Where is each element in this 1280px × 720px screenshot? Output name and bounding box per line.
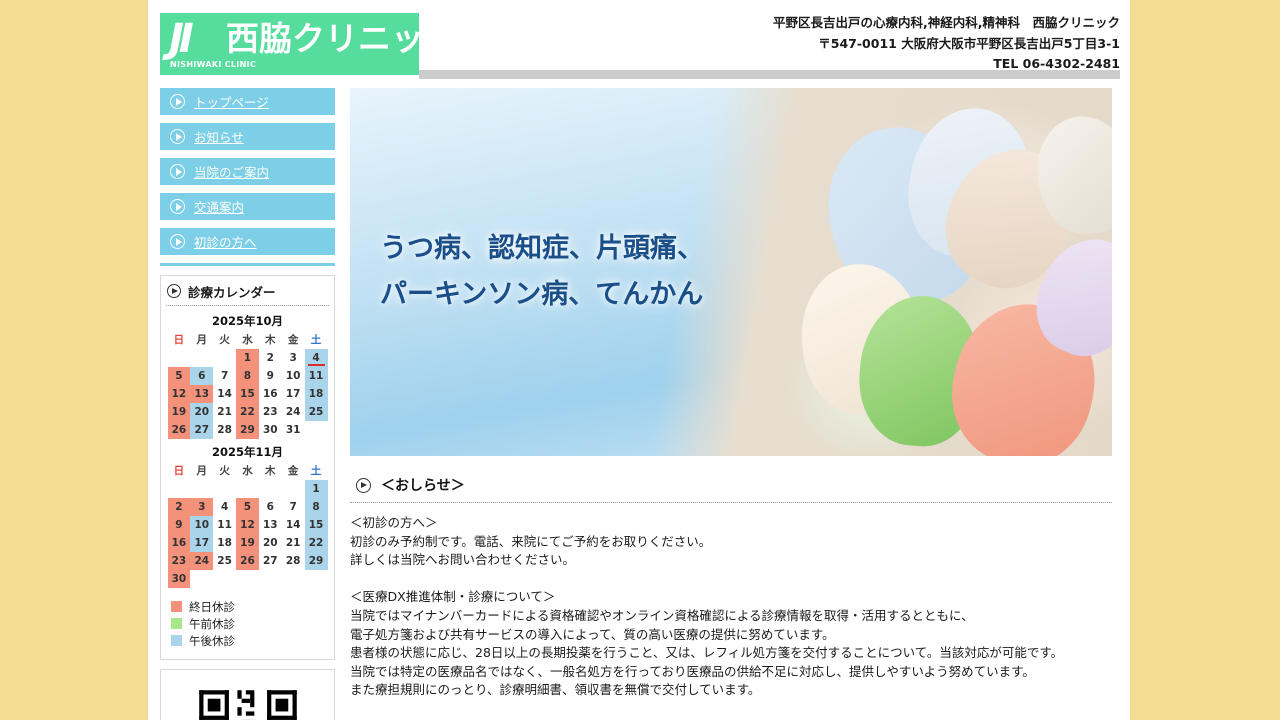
news-line: 初診のみ予約制です。電話、来院にてご予約をお取りください。 [350, 533, 1112, 552]
calendar-week-row: 16171819202122 [168, 534, 328, 552]
legend-swatch-icon [171, 618, 182, 629]
calendar-week-row: 567891011 [168, 367, 328, 385]
arrow-right-icon [170, 94, 185, 109]
sidebar-item-about[interactable]: 当院のご案内 [160, 158, 335, 185]
calendar-day-cell[interactable]: 30 [259, 421, 282, 439]
calendar-day-cell[interactable]: 31 [282, 421, 305, 439]
calendar-day-cell[interactable]: 17 [282, 385, 305, 403]
calendar-day-cell[interactable]: 20 [259, 534, 282, 552]
calendar-empty-cell [168, 480, 191, 498]
main-column: うつ病、認知症、片頭痛、 パーキンソン病、てんかん ＜おしらせ＞ ＜初診の方へ＞… [350, 88, 1118, 720]
calendar-day-cell[interactable]: 10 [282, 367, 305, 385]
arrow-right-icon [170, 234, 185, 249]
news-line: ＜医療DX推進体制・診療について＞ [350, 588, 1112, 607]
calendar-day-cell[interactable]: 14 [213, 385, 236, 403]
calendar-week-row: 9101112131415 [168, 516, 328, 534]
site-header: JI 西脇クリニック NISHIWAKI CLINIC 平野区長吉出戸の心療内科… [148, 0, 1130, 80]
calendar-day-cell[interactable]: 3 [282, 349, 305, 367]
calendar-day-cell[interactable]: 24 [282, 403, 305, 421]
news-blank-line [350, 700, 1112, 719]
legend-item-morning: 午前休診 [171, 615, 334, 632]
calendar-day-cell[interactable]: 25 [305, 403, 328, 421]
calendar-day-cell[interactable]: 6 [259, 498, 282, 516]
calendar-empty-cell [190, 349, 213, 367]
calendar-day-cell[interactable]: 8 [236, 367, 259, 385]
site-logo[interactable]: JI 西脇クリニック NISHIWAKI CLINIC [160, 13, 419, 75]
calendar-week-row: 23242526272829 [168, 552, 328, 570]
divider [350, 502, 1112, 503]
news-body: ＜初診の方へ＞初診のみ予約制です。電話、来院にてご予約をお取りください。詳しくは… [350, 514, 1112, 720]
calendar-week-row: 30 [168, 570, 328, 588]
legend-swatch-icon [171, 635, 182, 646]
calendar-day-cell[interactable]: 21 [282, 534, 305, 552]
calendar-week-row: 1 [168, 480, 328, 498]
weekday-label: 火 [213, 331, 236, 349]
calendar-day-cell[interactable]: 25 [213, 552, 236, 570]
calendar-panel-header: 診療カレンダー [161, 280, 334, 302]
news-section-title: ＜おしらせ＞ [381, 475, 465, 495]
weekday-label: 水 [236, 462, 259, 480]
calendar-day-cell[interactable]: 11 [213, 516, 236, 534]
calendar-day-cell[interactable]: 19 [236, 534, 259, 552]
calendar-day-cell[interactable]: 29 [305, 552, 328, 570]
calendar-empty-cell [168, 349, 191, 367]
arrow-right-icon [356, 478, 371, 493]
calendar-day-cell[interactable]: 5 [236, 498, 259, 516]
calendar-empty-cell [213, 570, 236, 588]
news-blank-line [350, 570, 1112, 589]
calendar-weekday-row: 日 月 火 水 木 金 土 [168, 462, 328, 480]
calendar-month-title: 2025年10月 [161, 308, 334, 331]
calendar-empty-cell [236, 570, 259, 588]
news-line: また療担規則にのっとり、診療明細書、領収書を無償で交付しています。 [350, 681, 1112, 700]
calendar-week-row: 262728293031 [168, 421, 328, 439]
calendar-table: 日 月 火 水 木 金 土 12345678910111213141516171… [168, 331, 328, 439]
weekday-label: 木 [259, 462, 282, 480]
calendar-day-cell[interactable]: 1 [305, 480, 328, 498]
calendar-month-october: 2025年10月 日 月 火 水 木 金 土 12345678910111213… [161, 308, 334, 439]
calendar-day-cell[interactable]: 13 [190, 385, 213, 403]
calendar-day-cell[interactable]: 7 [213, 367, 236, 385]
weekday-label: 土 [305, 331, 328, 349]
calendar-month-november: 2025年11月 日 月 火 水 木 金 土 12345678910111213… [161, 439, 334, 588]
calendar-day-cell[interactable]: 18 [213, 534, 236, 552]
news-section: ＜おしらせ＞ ＜初診の方へ＞初診のみ予約制です。電話、来院にてご予約をお取りくだ… [350, 474, 1112, 720]
weekday-label: 日 [168, 462, 191, 480]
calendar-day-cell[interactable]: 7 [282, 498, 305, 516]
sidebar-item-top[interactable]: トップページ [160, 88, 335, 115]
calendar-day-cell[interactable]: 16 [168, 534, 191, 552]
calendar-week-row: 19202122232425 [168, 403, 328, 421]
calendar-day-cell[interactable]: 2 [259, 349, 282, 367]
weekday-label: 月 [190, 462, 213, 480]
calendar-day-cell[interactable]: 13 [259, 516, 282, 534]
clinic-tagline: 平野区長吉出戸の心療内科,神経内科,精神科 西脇クリニック [773, 13, 1120, 34]
calendar-empty-cell [236, 480, 259, 498]
treatment-calendar-panel: 診療カレンダー 2025年10月 日 月 火 水 木 金 土 [160, 275, 335, 660]
news-line: 当院では特定の医療品名ではなく、一般名処方を行っており医療品の供給不足に対応し、… [350, 663, 1112, 682]
calendar-empty-cell [282, 480, 305, 498]
calendar-day-cell[interactable]: 16 [259, 385, 282, 403]
legend-item-afternoon: 午後休診 [171, 632, 334, 649]
legend-label: 終日休診 [189, 599, 235, 615]
sidebar: トップページ お知らせ 当院のご案内 交通案内 初診の方へ [160, 88, 335, 720]
calendar-day-cell[interactable]: 27 [190, 421, 213, 439]
news-line: ＜初診の方へ＞ [350, 514, 1112, 533]
news-header: ＜おしらせ＞ [350, 474, 1112, 496]
weekday-label: 土 [305, 462, 328, 480]
calendar-empty-cell [213, 480, 236, 498]
calendar-day-cell[interactable]: 4 [213, 498, 236, 516]
calendar-empty-cell [190, 480, 213, 498]
legend-swatch-icon [171, 601, 182, 612]
calendar-day-cell[interactable]: 17 [190, 534, 213, 552]
calendar-week-row: 2345678 [168, 498, 328, 516]
calendar-empty-cell [259, 570, 282, 588]
sidebar-item-label: 当院のご案内 [194, 162, 269, 181]
news-line: 患者様の状態に応じ、28日以上の長期投薬を行うこと、又は、レフィル処方箋を交付す… [350, 644, 1112, 663]
content-shell: JI 西脇クリニック NISHIWAKI CLINIC 平野区長吉出戸の心療内科… [148, 0, 1130, 720]
calendar-empty-cell [305, 570, 328, 588]
sidebar-item-label: トップページ [194, 92, 269, 111]
calendar-day-cell[interactable]: 1 [236, 349, 259, 367]
weekday-label: 金 [282, 331, 305, 349]
calendar-day-cell[interactable]: 15 [305, 516, 328, 534]
hero-headline: うつ病、認知症、片頭痛、 パーキンソン病、てんかん [380, 226, 704, 318]
calendar-day-cell[interactable]: 28 [282, 552, 305, 570]
weekday-label: 日 [168, 331, 191, 349]
calendar-day-cell[interactable]: 29 [236, 421, 259, 439]
calendar-day-cell[interactable]: 20 [190, 403, 213, 421]
arrow-right-icon [167, 284, 181, 298]
logo-english-name: NISHIWAKI CLINIC [170, 60, 256, 69]
calendar-legend: 終日休診 午前休診 午後休診 [171, 598, 334, 649]
legend-label: 午前休診 [189, 616, 235, 632]
calendar-week-row: 12131415161718 [168, 385, 328, 403]
clinic-address: 〒547-0011 大阪府大阪市平野区長吉出戸5丁目3-1 [773, 34, 1120, 55]
logo-mark-icon: JI [169, 18, 229, 60]
calendar-empty-cell [213, 349, 236, 367]
arrow-right-icon [170, 129, 185, 144]
weekday-label: 木 [259, 331, 282, 349]
calendar-empty-cell [190, 570, 213, 588]
news-line: 詳しくは当院へお問い合わせください。 [350, 551, 1112, 570]
calendar-day-cell[interactable]: 12 [236, 516, 259, 534]
divider [166, 305, 329, 306]
logo-japanese-name: 西脇クリニック [226, 19, 419, 59]
calendar-table: 日 月 火 水 木 金 土 12345678910111213141516171… [168, 462, 328, 588]
hero-headline-line2: パーキンソン病、てんかん [380, 272, 704, 318]
sidebar-item-label: お知らせ [194, 127, 244, 146]
calendar-weekday-row: 日 月 火 水 木 金 土 [168, 331, 328, 349]
sidebar-item-label: 初診の方へ [194, 232, 257, 251]
news-line: 電子処方箋および共有サービスの導入によって、質の高い医療の提供に努めています。 [350, 626, 1112, 645]
sidebar-item-label: 交通案内 [194, 197, 244, 216]
calendar-day-cell[interactable]: 10 [190, 516, 213, 534]
hero-headline-line1: うつ病、認知症、片頭痛、 [380, 226, 704, 272]
clinic-contact-info: 平野区長吉出戸の心療内科,神経内科,精神科 西脇クリニック 〒547-0011 … [773, 13, 1120, 75]
calendar-day-cell[interactable]: 26 [168, 421, 191, 439]
nav-bottom-bar [160, 263, 335, 266]
sidebar-item-news[interactable]: お知らせ [160, 123, 335, 150]
weekday-label: 金 [282, 462, 305, 480]
calendar-day-cell[interactable]: 5 [168, 367, 191, 385]
calendar-day-cell[interactable]: 14 [282, 516, 305, 534]
header-rule [419, 70, 1120, 79]
calendar-panel-title: 診療カレンダー [188, 282, 276, 301]
weekday-label: 火 [213, 462, 236, 480]
calendar-day-cell[interactable]: 26 [236, 552, 259, 570]
calendar-day-cell[interactable]: 12 [168, 385, 191, 403]
calendar-day-cell[interactable]: 24 [190, 552, 213, 570]
calendar-empty-cell [259, 480, 282, 498]
calendar-day-cell[interactable]: 27 [259, 552, 282, 570]
calendar-day-cell[interactable]: 22 [236, 403, 259, 421]
weekday-label: 月 [190, 331, 213, 349]
calendar-day-cell[interactable]: 21 [213, 403, 236, 421]
calendar-day-cell[interactable]: 15 [236, 385, 259, 403]
qr-code-icon [189, 680, 307, 720]
calendar-day-cell[interactable]: 23 [168, 552, 191, 570]
calendar-day-cell[interactable]: 28 [213, 421, 236, 439]
calendar-empty-cell [305, 421, 328, 439]
legend-item-all-day: 終日休診 [171, 598, 334, 615]
primary-navigation: トップページ お知らせ 当院のご案内 交通案内 初診の方へ [160, 88, 335, 266]
weekday-label: 水 [236, 331, 259, 349]
sidebar-item-first-visit[interactable]: 初診の方へ [160, 228, 335, 255]
calendar-day-cell[interactable]: 4 [305, 349, 328, 367]
calendar-day-cell[interactable]: 23 [259, 403, 282, 421]
calendar-day-cell[interactable]: 8 [305, 498, 328, 516]
page-root: JI 西脇クリニック NISHIWAKI CLINIC 平野区長吉出戸の心療内科… [0, 0, 1280, 720]
calendar-day-cell[interactable]: 11 [305, 367, 328, 385]
calendar-month-title: 2025年11月 [161, 439, 334, 462]
arrow-right-icon [170, 199, 185, 214]
arrow-right-icon [170, 164, 185, 179]
calendar-day-cell[interactable]: 9 [259, 367, 282, 385]
calendar-day-cell[interactable]: 2 [168, 498, 191, 516]
calendar-day-cell[interactable]: 22 [305, 534, 328, 552]
calendar-day-cell[interactable]: 3 [190, 498, 213, 516]
calendar-week-row: 1234 [168, 349, 328, 367]
sidebar-item-access[interactable]: 交通案内 [160, 193, 335, 220]
calendar-day-cell[interactable]: 9 [168, 516, 191, 534]
calendar-day-cell[interactable]: 18 [305, 385, 328, 403]
calendar-day-cell[interactable]: 30 [168, 570, 191, 588]
calendar-day-cell[interactable]: 19 [168, 403, 191, 421]
calendar-empty-cell [282, 570, 305, 588]
qr-code-panel [160, 669, 335, 720]
news-line: 当院ではマイナンバーカードによる資格確認やオンライン資格確認による診療情報を取得… [350, 607, 1112, 626]
legend-label: 午後休診 [189, 633, 235, 649]
calendar-day-cell[interactable]: 6 [190, 367, 213, 385]
hero-banner: うつ病、認知症、片頭痛、 パーキンソン病、てんかん [350, 88, 1112, 456]
